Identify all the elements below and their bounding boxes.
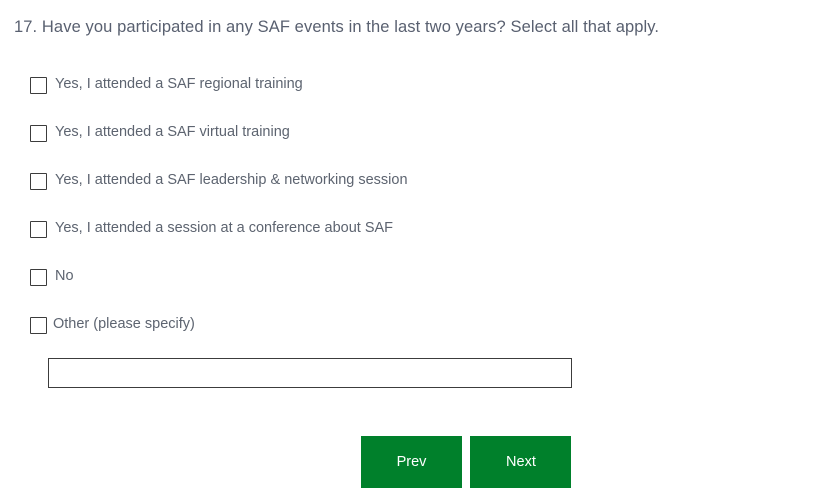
checkbox-options-list: Yes, I attended a SAF regional training … xyxy=(0,70,837,358)
checkbox-virtual-training[interactable] xyxy=(30,125,47,142)
option-row-other[interactable]: Other (please specify) xyxy=(0,310,837,358)
option-label-regional-training[interactable]: Yes, I attended a SAF regional training xyxy=(55,74,303,95)
checkbox-leadership-networking[interactable] xyxy=(30,173,47,190)
checkbox-regional-training[interactable] xyxy=(30,77,47,94)
option-row-leadership-networking[interactable]: Yes, I attended a SAF leadership & netwo… xyxy=(0,166,837,214)
question-title: 17. Have you participated in any SAF eve… xyxy=(14,16,659,38)
option-label-conference-session[interactable]: Yes, I attended a session at a conferenc… xyxy=(55,218,393,239)
option-row-regional-training[interactable]: Yes, I attended a SAF regional training xyxy=(0,70,837,118)
next-button[interactable]: Next xyxy=(470,436,571,488)
option-label-no[interactable]: No xyxy=(55,266,74,287)
checkbox-no[interactable] xyxy=(30,269,47,286)
option-row-no[interactable]: No xyxy=(0,262,837,310)
option-row-conference-session[interactable]: Yes, I attended a session at a conferenc… xyxy=(0,214,837,262)
checkbox-other[interactable] xyxy=(30,317,47,334)
checkbox-conference-session[interactable] xyxy=(30,221,47,238)
survey-question-page: 17. Have you participated in any SAF eve… xyxy=(0,0,837,500)
prev-button[interactable]: Prev xyxy=(361,436,462,488)
other-specify-input[interactable] xyxy=(48,358,572,388)
option-label-leadership-networking[interactable]: Yes, I attended a SAF leadership & netwo… xyxy=(55,170,408,191)
navigation-buttons: Prev Next xyxy=(361,436,571,488)
option-label-virtual-training[interactable]: Yes, I attended a SAF virtual training xyxy=(55,122,290,143)
option-label-other[interactable]: Other (please specify) xyxy=(53,314,195,335)
option-row-virtual-training[interactable]: Yes, I attended a SAF virtual training xyxy=(0,118,837,166)
